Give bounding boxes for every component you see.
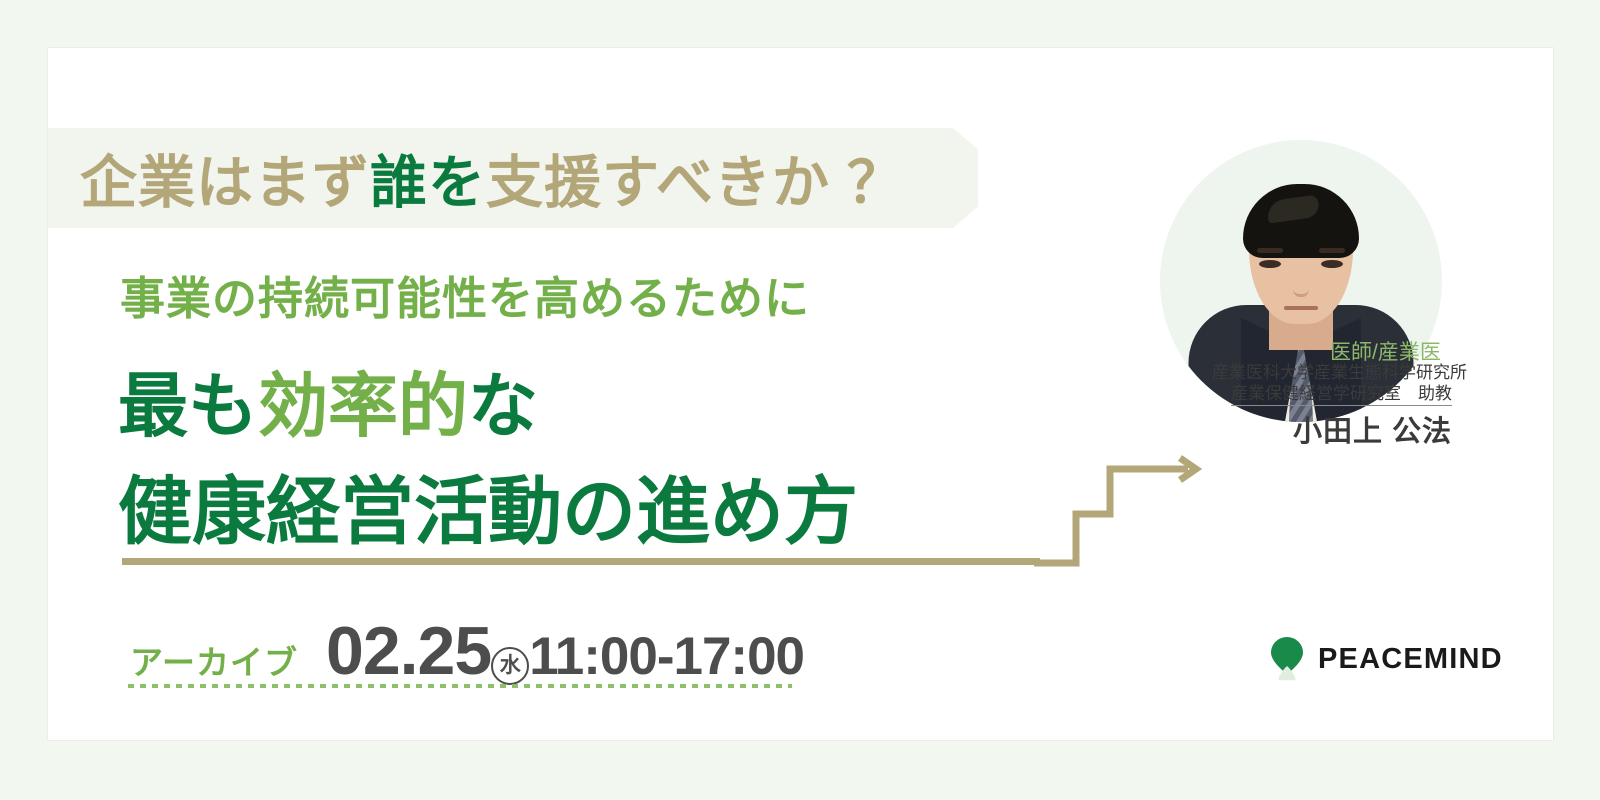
stepped-arrow-icon — [1030, 452, 1205, 567]
title-line1-part2: な — [468, 367, 538, 445]
headline-part-1: 企業はまず — [80, 137, 370, 219]
portrait-brow-left — [1257, 248, 1283, 253]
speaker-organization: 産業医科大学産業生態科学研究所 産業保健経営学研究室 助教 — [1212, 362, 1452, 406]
portrait-nose — [1293, 276, 1309, 297]
speaker-organization-line-1: 産業医科大学産業生態科学研究所 — [1212, 362, 1452, 383]
dotted-divider — [128, 684, 792, 688]
title-line-2: 健康経営活動の進め方 — [118, 452, 858, 559]
portrait-eye-right — [1321, 260, 1343, 268]
event-date: 02.25 — [326, 612, 491, 690]
headline-part-3: 支援すべきか ？ — [486, 137, 905, 219]
portrait-mouth — [1284, 306, 1318, 310]
location-pin-icon — [1270, 636, 1304, 682]
schedule-row: アーカイブ 02.25 水 11:00-17:00 — [130, 612, 804, 690]
speaker-name: 小田上 公法 — [1212, 408, 1452, 450]
subtitle: 事業の持続可能性を高めるために — [120, 262, 810, 327]
portrait-eye-left — [1259, 260, 1281, 268]
portrait-hair — [1243, 184, 1359, 258]
speaker-organization-line-2: 産業保健経営学研究室 助教 — [1231, 383, 1452, 406]
portrait-brow-right — [1319, 248, 1345, 253]
title-line-1: 最も効率的な — [118, 350, 538, 451]
logo-text: PEACEMIND — [1318, 643, 1503, 676]
title-line1-part1: 最も — [118, 367, 258, 445]
peacemind-logo: PEACEMIND — [1270, 636, 1503, 682]
webinar-banner: 企業はまず誰を支援すべきか ？ 事業の持続可能性を高めるために 最も効率的な 健… — [0, 0, 1600, 800]
archive-label: アーカイブ — [130, 636, 298, 684]
event-time: 11:00-17:00 — [529, 626, 804, 687]
event-day-of-week: 水 — [491, 647, 529, 685]
headline: 企業はまず誰を支援すべきか ？ — [80, 133, 905, 223]
headline-emphasis: 誰を — [370, 137, 486, 219]
title-line1-emphasis: 効率的 — [258, 367, 468, 445]
title-underline — [122, 558, 1040, 565]
